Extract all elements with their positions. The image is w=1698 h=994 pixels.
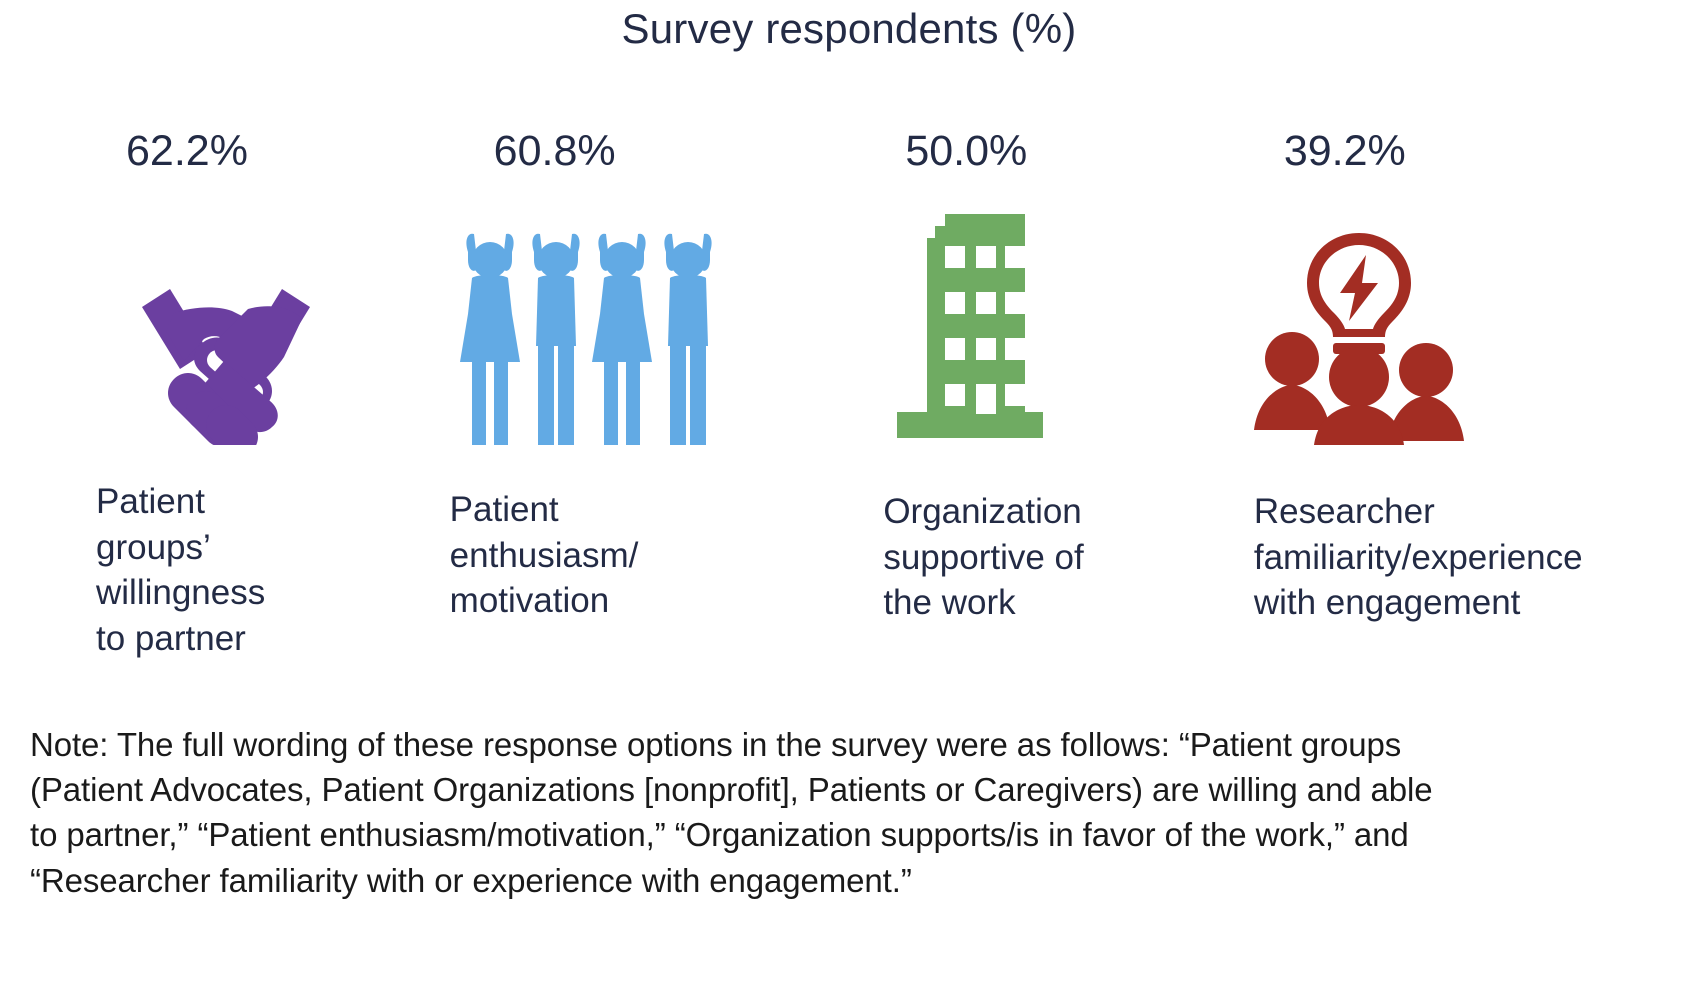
note-line: Note: The full wording of these response… xyxy=(30,722,1660,767)
stat-label-line: to partner xyxy=(96,616,430,662)
page-title: Survey respondents (%) xyxy=(0,0,1698,52)
handshake-icon xyxy=(96,195,430,445)
stat-label-2: Patient enthusiasm/ motivation xyxy=(450,487,838,624)
stat-label-line: the work xyxy=(883,580,1226,626)
stat-label-line: Patient xyxy=(96,479,430,525)
stat-label-1: Patient groups’ willingness to partner xyxy=(96,479,430,661)
stat-value-3: 50.0% xyxy=(905,130,1226,173)
stat-column-patient-groups: 62.2% xyxy=(36,52,430,661)
stat-label-line: willingness xyxy=(96,570,430,616)
office-building-icon xyxy=(883,195,1226,445)
figure-note: Note: The full wording of these response… xyxy=(30,722,1660,903)
stat-value-4: 39.2% xyxy=(1284,130,1668,173)
lightbulb-team-icon xyxy=(1254,195,1668,445)
stat-label-line: Researcher xyxy=(1254,489,1668,535)
stat-label-3: Organization supportive of the work xyxy=(883,489,1226,626)
stat-columns: 62.2% xyxy=(0,52,1698,661)
stat-label-line: motivation xyxy=(450,578,838,624)
stat-value-1: 62.2% xyxy=(126,130,430,173)
stat-label-line: Patient xyxy=(450,487,838,533)
stat-column-researcher: 39.2% xyxy=(1226,52,1668,626)
people-raised-arms-icon xyxy=(450,195,838,445)
stat-label-line: Organization xyxy=(883,489,1226,535)
stat-label-line: with engagement xyxy=(1254,580,1668,626)
stat-label-line: supportive of xyxy=(883,535,1226,581)
stat-value-2: 60.8% xyxy=(494,130,838,173)
stat-label-4: Researcher familiarity/experience with e… xyxy=(1254,489,1668,626)
stat-label-line: enthusiasm/ xyxy=(450,533,838,579)
note-line: to partner,” “Patient enthusiasm/motivat… xyxy=(30,812,1660,857)
stat-column-organization: 50.0% xyxy=(837,52,1226,626)
note-line: (Patient Advocates, Patient Organization… xyxy=(30,767,1660,812)
stat-label-line: groups’ xyxy=(96,525,430,571)
note-line: “Researcher familiarity with or experien… xyxy=(30,858,1660,903)
stat-column-patient-enthusiasm: 60.8% xyxy=(430,52,838,624)
stat-label-line: familiarity/experience xyxy=(1254,535,1668,581)
